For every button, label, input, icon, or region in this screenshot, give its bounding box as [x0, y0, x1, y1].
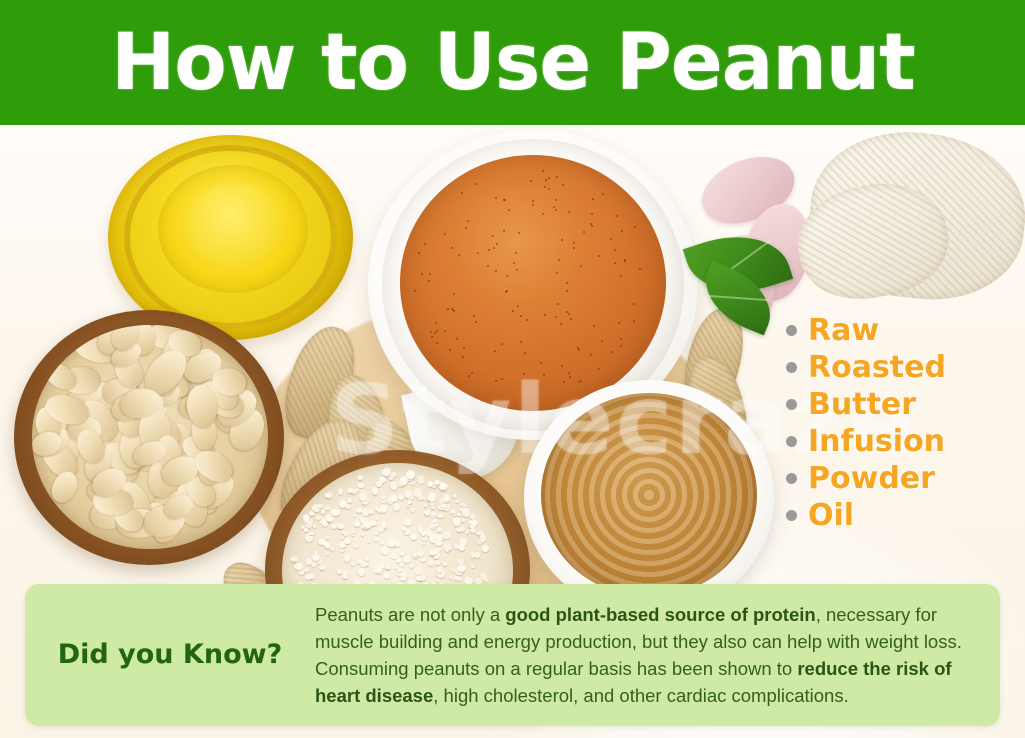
liquid-speck — [421, 273, 423, 275]
liquid-speck — [418, 252, 420, 254]
powder-crumb — [361, 533, 364, 536]
powder-crumb — [413, 488, 421, 496]
liquid-speck — [601, 340, 603, 342]
powder-crumb — [325, 552, 330, 556]
powder-crumb — [427, 560, 434, 566]
liquid-speck — [496, 243, 498, 245]
powder-crumb — [325, 545, 331, 549]
powder-crumb — [322, 521, 327, 527]
liquid-speck — [515, 252, 517, 254]
liquid-speck — [468, 375, 470, 377]
powder-crumb — [457, 513, 460, 516]
liquid-speck — [526, 319, 528, 321]
bullet-dot-icon — [786, 510, 797, 521]
powder-crumb — [358, 568, 365, 576]
powder-crumb — [457, 559, 464, 565]
liquid-speck — [566, 311, 568, 313]
liquid-speck — [501, 378, 503, 380]
leaf-midrib-2 — [706, 295, 770, 301]
liquid-speck — [435, 322, 437, 324]
powder-crumb — [337, 569, 342, 574]
liquid-speck — [614, 262, 616, 264]
powder-crumb — [377, 508, 382, 513]
liquid-speck — [428, 280, 430, 282]
use-item-label: Oil — [808, 501, 854, 531]
liquid-speck — [505, 291, 507, 293]
powder-crumb — [454, 544, 460, 549]
powder-crumb — [338, 488, 344, 495]
liquid-speck — [542, 213, 544, 215]
liquid-speck — [598, 255, 600, 257]
powder-crumb — [360, 561, 368, 567]
powder-crumb — [378, 526, 384, 532]
liquid-speck — [633, 320, 635, 322]
powder-crumb — [353, 514, 356, 517]
powder-crumb — [417, 550, 424, 557]
powder-crumb — [386, 565, 391, 569]
liquid-speck — [493, 247, 495, 249]
powder-crumb — [451, 568, 454, 571]
use-item-label: Roasted — [808, 353, 946, 383]
powder-crumb — [313, 524, 317, 528]
page-title: How to Use Peanut — [111, 24, 915, 102]
bullet-dot-icon — [786, 399, 797, 410]
liquid-speck — [431, 336, 433, 338]
liquid-speck — [545, 179, 547, 181]
liquid-speck — [624, 260, 626, 262]
powder-crumb — [448, 547, 452, 550]
liquid-speck — [516, 269, 518, 271]
liquid-speck — [414, 290, 416, 292]
liquid-speck — [569, 376, 571, 378]
did-you-know-panel: Did you Know? Peanuts are not only a goo… — [25, 584, 1000, 726]
powder-crumb — [375, 532, 379, 535]
powder-crumb — [343, 574, 348, 579]
powder-crumb — [465, 530, 469, 533]
liquid-speck — [568, 313, 570, 315]
infographic-poster: How to Use Peanut — [0, 0, 1025, 738]
powder-crumb — [417, 475, 426, 485]
powder-crumb — [357, 483, 364, 488]
powder-crumb — [381, 495, 386, 499]
liquid-speck — [444, 233, 446, 235]
powder-crumb — [375, 517, 378, 520]
liquid-speck — [578, 349, 580, 351]
liquid-speck — [561, 239, 563, 241]
liquid-speck — [620, 345, 622, 347]
liquid-speck — [424, 243, 426, 245]
liquid-speck — [434, 332, 436, 334]
powder-crumb — [372, 487, 379, 494]
powder-crumb — [368, 540, 372, 543]
powder-crumb — [309, 511, 315, 516]
powder-crumb — [409, 564, 414, 568]
liquid-speck — [543, 374, 545, 376]
liquid-speck — [503, 199, 505, 201]
liquid-speck — [429, 273, 431, 275]
liquid-speck — [583, 231, 585, 233]
bullet-dot-icon — [786, 473, 797, 484]
liquid-speck — [467, 220, 469, 222]
liquid-speck — [580, 265, 582, 267]
liquid-speck — [602, 193, 604, 195]
liquid-speck — [449, 349, 451, 351]
liquid-speck — [633, 303, 635, 305]
liquid-speck — [453, 293, 455, 295]
liquid-speck — [508, 209, 510, 211]
body-segment-1: good plant-based source of protein — [505, 604, 815, 625]
liquid-speck — [620, 338, 622, 340]
liquid-speck — [568, 211, 570, 213]
powder-crumb — [484, 578, 488, 582]
use-item-butter: Butter — [786, 386, 1016, 423]
liquid-speck — [451, 247, 453, 249]
liquid-speck — [447, 308, 449, 310]
liquid-speck — [512, 310, 514, 312]
liquid-speck — [524, 352, 526, 354]
powder-crumb — [318, 504, 323, 509]
powder-crumb — [344, 554, 351, 563]
powder-crumb — [324, 506, 329, 511]
liquid-speck — [475, 183, 477, 185]
powder-crumb — [455, 500, 459, 503]
powder-crumb — [420, 557, 426, 562]
powder-crumb — [384, 572, 390, 579]
powder-crumb — [474, 552, 480, 557]
liquid-speck — [590, 354, 592, 356]
powder-crumb — [304, 568, 309, 572]
liquid-speck — [430, 331, 432, 333]
liquid-speck — [616, 215, 618, 217]
powder-crumb — [457, 529, 461, 532]
liquid-speck — [453, 310, 455, 312]
powder-crumb — [305, 521, 313, 528]
powder-crumb — [414, 567, 422, 575]
liquid-speck — [561, 365, 563, 367]
use-item-label: Infusion — [808, 427, 945, 457]
powder-crumb — [461, 519, 465, 522]
liquid-speck — [462, 356, 464, 358]
powder-crumb — [477, 540, 483, 544]
liquid-speck — [573, 247, 575, 249]
liquid-speck — [556, 272, 558, 274]
powder-crumb — [376, 481, 381, 487]
powder-crumb — [437, 567, 442, 573]
liquid-speck — [542, 170, 544, 172]
liquid-speck — [492, 235, 494, 237]
liquid-speck — [562, 184, 564, 186]
liquid-speck — [548, 177, 550, 179]
powder-crumb — [471, 565, 475, 568]
powder-crumb — [443, 563, 447, 566]
liquid-speck — [566, 290, 568, 292]
liquid-speck — [611, 351, 613, 353]
liquid-speck — [444, 330, 446, 332]
liquid-speck — [548, 188, 550, 190]
liquid-speck — [532, 204, 534, 206]
use-item-oil: Oil — [786, 497, 1016, 534]
powder-crumb — [381, 469, 390, 476]
powder-crumb — [321, 509, 325, 514]
powder-crumb — [453, 518, 461, 526]
liquid-speck — [461, 192, 463, 194]
liquid-speck — [614, 249, 616, 251]
peanut-infusion-liquid — [400, 155, 666, 411]
powder-crumb — [347, 498, 353, 503]
liquid-speck — [463, 347, 465, 349]
liquid-speck — [471, 372, 473, 374]
liquid-speck — [592, 198, 594, 200]
powder-crumb — [437, 577, 441, 582]
liquid-speck — [634, 226, 636, 228]
powder-crumb — [437, 527, 442, 533]
powder-crumb — [309, 532, 313, 536]
liquid-speck — [487, 265, 489, 267]
powder-crumb — [368, 510, 374, 514]
powder-crumb — [476, 531, 481, 535]
use-item-label: Powder — [808, 464, 935, 494]
header-bar: How to Use Peanut — [0, 0, 1025, 125]
powder-crumb — [403, 556, 411, 564]
liquid-speck — [517, 305, 519, 307]
powder-crumb — [428, 492, 436, 502]
powder-crumb — [458, 577, 462, 581]
powder-crumb — [463, 504, 467, 507]
liquid-speck — [540, 362, 542, 364]
liquid-speck — [495, 380, 497, 382]
powder-crumb — [354, 521, 361, 527]
liquid-speck — [560, 323, 562, 325]
liquid-speck — [573, 242, 575, 244]
bullet-dot-icon — [786, 325, 797, 336]
liquid-speck — [488, 249, 490, 251]
powder-crumb — [291, 558, 295, 561]
powder-crumb — [468, 521, 471, 524]
powder-crumb — [442, 499, 445, 503]
liquid-speck — [555, 199, 557, 201]
did-you-know-title: Did you Know? — [25, 640, 315, 670]
body-segment-0: Peanuts are not only a — [315, 604, 505, 625]
liquid-speck — [503, 230, 505, 232]
liquid-speck — [544, 186, 546, 188]
peanut-uses-list: RawRoastedButterInfusionPowderOil — [786, 312, 1016, 534]
liquid-speck — [557, 303, 559, 305]
liquid-speck — [568, 372, 570, 374]
powder-crumb — [351, 562, 355, 566]
liquid-speck — [593, 325, 595, 327]
liquid-speck — [473, 315, 475, 317]
liquid-speck — [477, 252, 479, 254]
powder-crumb — [410, 534, 417, 540]
powder-crumb — [344, 538, 351, 545]
powder-crumb — [482, 545, 489, 551]
powder-crumb — [404, 518, 411, 525]
powder-crumb — [294, 563, 302, 570]
liquid-speck — [495, 197, 497, 199]
powder-crumb — [423, 497, 426, 500]
use-item-powder: Powder — [786, 460, 1016, 497]
powder-crumb — [357, 475, 363, 480]
liquid-speck — [555, 209, 557, 211]
powder-crumb — [424, 504, 427, 507]
liquid-speck — [494, 350, 496, 352]
powder-crumb — [311, 560, 317, 566]
powder-crumb — [353, 490, 357, 494]
powder-crumb — [398, 494, 403, 500]
liquid-speck — [465, 227, 467, 229]
use-item-label: Butter — [808, 390, 916, 420]
liquid-speck — [570, 318, 572, 320]
powder-crumb — [442, 531, 451, 539]
powder-crumb — [353, 544, 358, 548]
liquid-speck — [618, 322, 620, 324]
use-item-label: Raw — [808, 316, 879, 346]
peanut-oil-highlight — [186, 183, 284, 267]
powder-crumb — [427, 481, 433, 487]
liquid-speck — [563, 381, 565, 383]
liquid-speck — [639, 268, 641, 270]
body-segment-4: , high cholesterol, and other cardiac co… — [433, 685, 848, 706]
liquid-speck — [436, 330, 438, 332]
bullet-dot-icon — [786, 362, 797, 373]
powder-crumb — [331, 509, 340, 517]
powder-crumb — [345, 504, 351, 509]
bullet-dot-icon — [786, 436, 797, 447]
powder-crumb — [352, 531, 355, 533]
peanut-kernel — [47, 467, 81, 506]
liquid-speck — [591, 213, 593, 215]
powder-crumb — [435, 540, 442, 547]
liquid-speck — [553, 206, 555, 208]
liquid-speck — [558, 259, 560, 261]
powder-crumb — [338, 524, 344, 529]
liquid-speck — [513, 262, 515, 264]
liquid-speck — [530, 180, 532, 182]
powder-crumb — [457, 565, 466, 572]
powder-crumb — [449, 576, 452, 579]
powder-crumb — [381, 546, 389, 555]
powder-crumb — [325, 493, 331, 497]
liquid-speck — [520, 341, 522, 343]
liquid-speck — [532, 200, 534, 202]
liquid-speck — [598, 368, 600, 370]
powder-crumb — [460, 503, 463, 505]
powder-crumb — [425, 511, 430, 516]
liquid-speck — [518, 232, 520, 234]
powder-crumb — [404, 490, 412, 498]
powder-crumb — [435, 560, 440, 565]
liquid-speck — [520, 315, 522, 317]
use-item-raw: Raw — [786, 312, 1016, 349]
powder-crumb — [397, 567, 402, 571]
peanut-butter-swirl — [541, 393, 757, 597]
liquid-speck — [436, 342, 438, 344]
use-item-roasted: Roasted — [786, 349, 1016, 386]
liquid-speck — [458, 254, 460, 256]
liquid-speck — [501, 343, 503, 345]
powder-crumb — [411, 508, 415, 511]
powder-crumb — [407, 500, 412, 504]
powder-crumb — [422, 542, 426, 546]
liquid-speck — [475, 321, 477, 323]
powder-crumb — [341, 536, 344, 539]
powder-crumb — [312, 554, 320, 561]
liquid-speck — [620, 275, 622, 277]
liquid-speck — [610, 238, 612, 240]
liquid-speck — [566, 282, 568, 284]
powder-crumb — [325, 536, 329, 539]
liquid-speck — [555, 316, 557, 318]
liquid-speck — [621, 230, 623, 232]
powder-crumb — [431, 506, 435, 509]
use-item-infusion: Infusion — [786, 423, 1016, 460]
powder-crumb — [305, 574, 312, 580]
powder-crumb — [399, 478, 407, 486]
liquid-speck — [544, 314, 546, 316]
liquid-speck — [523, 373, 525, 375]
liquid-speck — [591, 225, 593, 227]
liquid-speck — [456, 338, 458, 340]
liquid-speck — [506, 275, 508, 277]
liquid-speck — [580, 380, 582, 382]
powder-crumb — [304, 528, 308, 532]
powder-crumb — [320, 567, 324, 570]
liquid-speck — [495, 270, 497, 272]
powder-crumb — [393, 503, 400, 511]
liquid-speck — [556, 176, 558, 178]
did-you-know-body: Peanuts are not only a good plant-based … — [315, 601, 1000, 709]
powder-crumb — [390, 472, 397, 477]
powder-crumb — [410, 481, 415, 485]
powder-crumb — [380, 540, 384, 545]
powder-crumb — [429, 523, 436, 529]
powder-crumb — [453, 494, 457, 498]
powder-crumb — [437, 514, 443, 519]
roasted-peanuts-fill — [32, 325, 268, 549]
